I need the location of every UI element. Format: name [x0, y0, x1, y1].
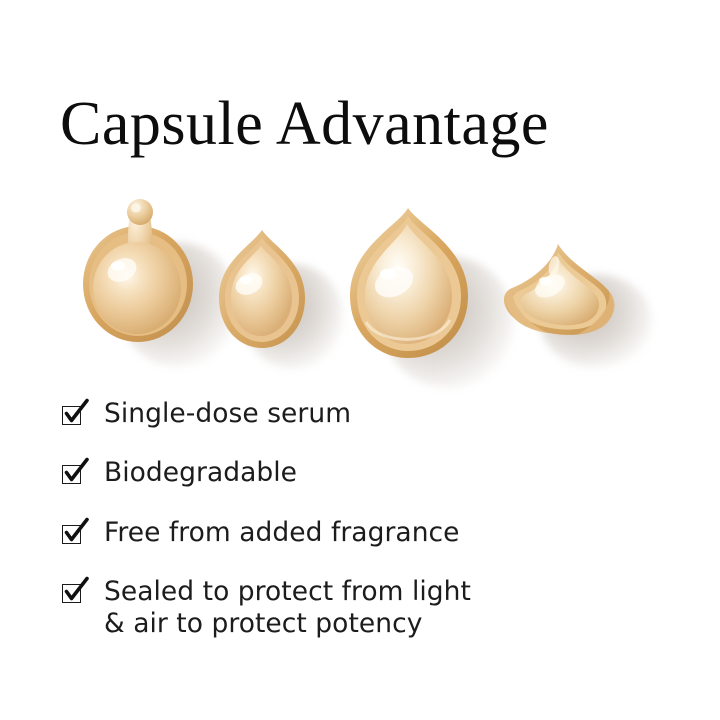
check-mark-icon: [60, 576, 90, 606]
list-item-label: Biodegradable: [104, 457, 297, 489]
checked-checkbox-icon: [60, 459, 90, 489]
check-mark-icon: [60, 398, 90, 428]
list-item: Sealed to protect from light & air to pr…: [60, 576, 680, 641]
checked-checkbox-icon: [60, 578, 90, 608]
capsule-image-row: [0, 186, 720, 376]
capsule-teardrop-small: [205, 224, 325, 364]
check-mark-icon: [60, 517, 90, 547]
capsule-shape-2: [205, 224, 325, 364]
page-title: Capsule Advantage: [60, 92, 549, 157]
list-item: Single-dose serum: [60, 398, 680, 430]
list-item: Free from added fragrance: [60, 517, 680, 549]
list-item-label: Sealed to protect from light & air to pr…: [104, 576, 471, 641]
capsule-pinched-flat: [492, 230, 632, 362]
benefits-checklist: Single-dose serum Biodegradable: [60, 398, 680, 668]
product-benefits-graphic: Capsule Advantage: [0, 0, 720, 720]
list-item-label: Free from added fragrance: [104, 517, 460, 549]
capsule-oval-large: [334, 204, 494, 374]
checked-checkbox-icon: [60, 519, 90, 549]
capsule-shape-4: [492, 230, 632, 362]
capsule-shape-3: [334, 204, 494, 374]
list-item-label: Single-dose serum: [104, 398, 351, 430]
checked-checkbox-icon: [60, 400, 90, 430]
list-item: Biodegradable: [60, 457, 680, 489]
check-mark-icon: [60, 457, 90, 487]
